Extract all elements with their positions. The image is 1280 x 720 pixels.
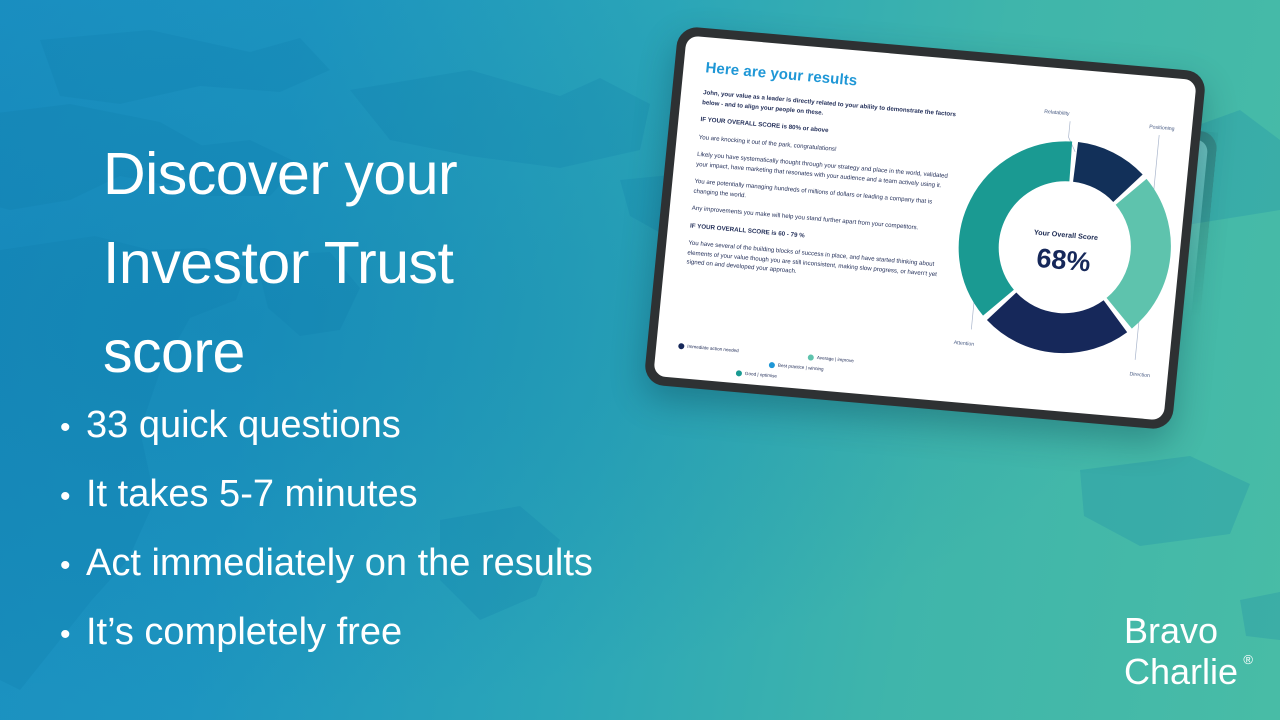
donut-label-relatability: Relatability <box>1044 109 1070 117</box>
list-item: • Act immediately on the results <box>60 530 593 599</box>
list-item-label: It’s completely free <box>86 599 402 665</box>
legend-item-label: Immediate action needed <box>687 343 739 355</box>
list-item-label: Act immediately on the results <box>86 530 593 596</box>
brand-line-2: Charlie <box>1124 651 1238 692</box>
tablet-screen: Here are your results John, your value a… <box>653 36 1196 421</box>
donut-center-caption: Your Overall Score <box>1034 228 1099 243</box>
legend-item: Average | improve <box>807 353 927 371</box>
legend-item-label: Average | improve <box>816 354 854 365</box>
benefits-list: • 33 quick questions • It takes 5-7 minu… <box>60 392 593 668</box>
donut-segment-relatability <box>1073 162 1130 188</box>
donut-segment-positioning <box>1119 192 1156 316</box>
bullet-marker-icon: • <box>60 602 86 668</box>
legend-swatch-icon <box>808 354 815 360</box>
list-item-label: It takes 5-7 minutes <box>86 461 418 527</box>
legend-swatch-icon <box>678 343 685 349</box>
chart-legend: Immediate action neededAverage | improve… <box>675 342 937 398</box>
brand-logo: Bravo Charlie ® <box>1124 610 1238 692</box>
results-document-body: John, your value as a leader is directly… <box>686 88 958 289</box>
bullet-marker-icon: • <box>60 464 86 530</box>
donut-segment-direction <box>1000 306 1116 338</box>
list-item: • It takes 5-7 minutes <box>60 461 593 530</box>
legend-swatch-icon <box>769 362 776 368</box>
list-item: • It’s completely free <box>60 599 593 668</box>
slide-canvas: Here are your results John, your value a… <box>0 0 1280 720</box>
legend-item: Good | optimise <box>736 369 778 381</box>
legend-item-label: Best practice | winning <box>777 362 823 374</box>
headline-line-1: Discover your <box>103 130 663 219</box>
donut-center-value: 68% <box>1035 243 1092 278</box>
legend-item: Immediate action needed <box>678 342 798 360</box>
tablet-bezel: Here are your results John, your value a… <box>643 26 1206 430</box>
headline-line-3: score <box>103 308 663 397</box>
donut-label-direction: Direction <box>1129 371 1150 379</box>
results-document: Here are your results John, your value a… <box>653 36 1196 421</box>
donut-label-positioning: Positioning <box>1149 124 1175 132</box>
overall-score-donut-chart: Relatability Positioning Direction Atten… <box>926 77 1197 407</box>
legend-item-label: Good | optimise <box>745 370 778 381</box>
bullet-marker-icon: • <box>60 395 86 461</box>
page-title: Discover your Investor Trust score <box>103 130 663 397</box>
list-item: • 33 quick questions <box>60 392 593 461</box>
legend-swatch-icon <box>736 370 743 376</box>
donut-label-attention: Attention <box>953 340 974 348</box>
list-item-label: 33 quick questions <box>86 392 401 458</box>
headline-line-2: Investor Trust <box>103 219 663 308</box>
brand-line-1: Bravo <box>1124 610 1238 651</box>
tablet-mockup: Here are your results John, your value a… <box>643 26 1206 430</box>
bullet-marker-icon: • <box>60 533 86 599</box>
registered-trademark-icon: ® <box>1243 653 1253 666</box>
